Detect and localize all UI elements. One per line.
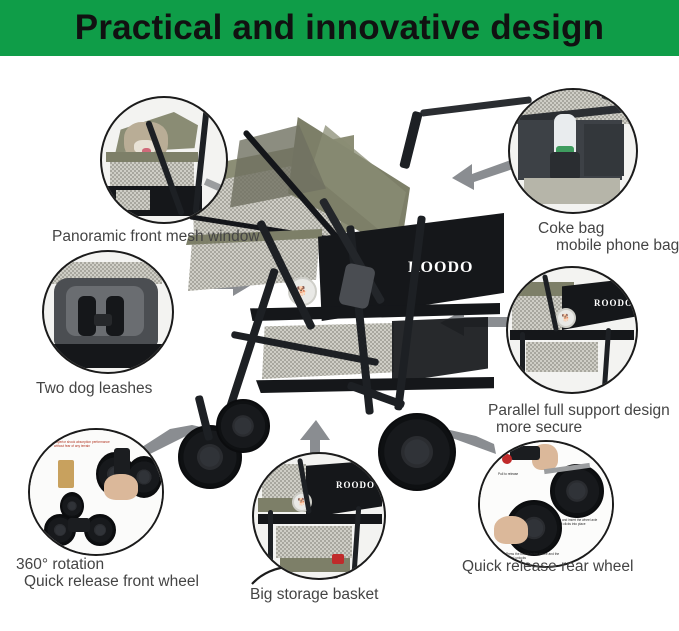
header-banner: Practical and innovative design [0, 0, 679, 56]
front-wheel-right [216, 399, 270, 453]
caption-storage-basket: Big storage basket [250, 586, 378, 603]
brand-wordmark-small: ROODO [594, 298, 633, 308]
rear-wheel [378, 413, 456, 491]
page-title: Practical and innovative design [0, 0, 679, 56]
caption-coke-bag: Coke bag mobile phone bag [538, 220, 679, 255]
dog-badge-icon-small: 🐕 [556, 308, 576, 328]
caption-parallel-support: Parallel full support design more secure [488, 402, 670, 437]
callout-coke-bag [508, 88, 638, 214]
caption-front-wheel: 360° rotation Quick release front wheel [16, 556, 199, 591]
caption-dog-leashes: Two dog leashes [36, 380, 152, 397]
callout-parallel-support: ROODO 🐕 [506, 266, 638, 394]
callout-front-wheel: Superior shock absorption performance wi… [28, 428, 164, 556]
brand-wordmark-basket: ROODO [336, 480, 375, 490]
infographic-page: Practical and innovative design [0, 0, 679, 631]
callout-dog-leashes [42, 250, 174, 374]
callout-storage-basket: ROODO 🐕 [252, 452, 386, 580]
caption-rear-wheel: Quick release rear wheel [462, 558, 633, 575]
leash-clip-icon [94, 314, 112, 326]
callout-rear-wheel: Pull to release Align and insert the whe… [478, 440, 614, 568]
caption-panoramic-window: Panoramic front mesh window [52, 228, 260, 245]
callout-panoramic-window [100, 96, 228, 224]
front-wheel-overlay-note: Superior shock absorption performance wi… [54, 440, 110, 449]
